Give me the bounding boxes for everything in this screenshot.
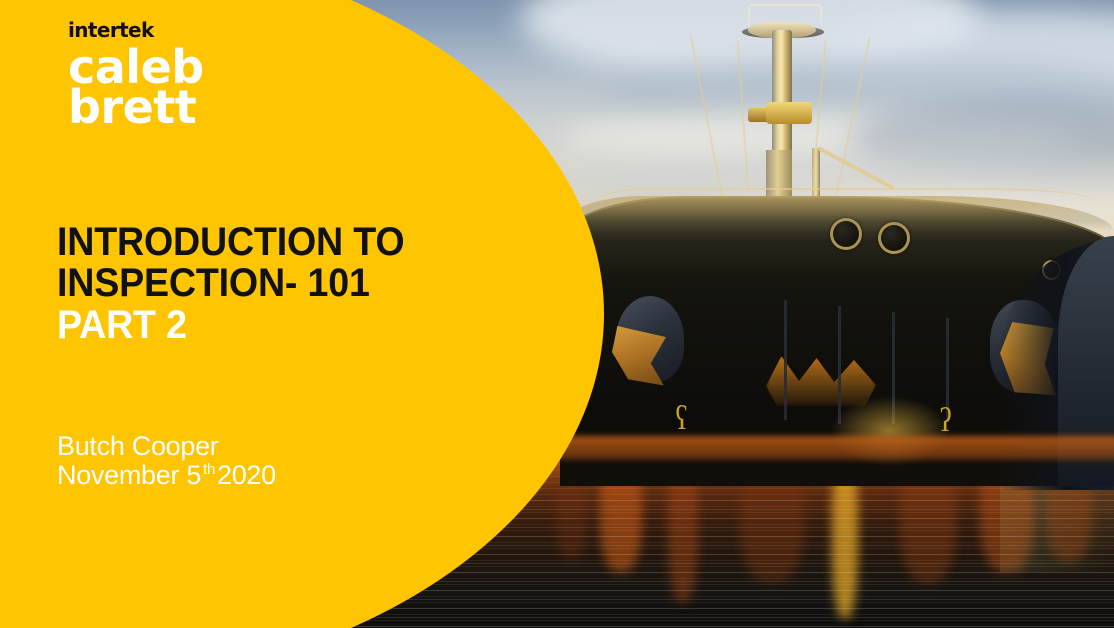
hull-fitting [784, 300, 787, 420]
title-line-3-part: PART 2 [57, 304, 404, 346]
title-line-1: INTRODUCTION TO [57, 222, 404, 263]
logo-brett-wordmark: brett [68, 88, 204, 128]
date-ordinal-suffix: th [201, 461, 217, 478]
date-month-day: November 5 [57, 460, 201, 490]
draft-mark-left: ʕ [676, 402, 688, 436]
waterline-boot-top [560, 436, 1114, 460]
presentation-title-slide: ʕ ʕ intertek caleb brett INTRODUCTION TO… [0, 0, 1114, 628]
presenter-info: Butch Cooper November 5th2020 [57, 432, 276, 490]
presenter-name: Butch Cooper [57, 432, 276, 461]
porthole [830, 218, 862, 250]
slide-title: INTRODUCTION TO INSPECTION- 101 PART 2 [57, 222, 427, 346]
presentation-date: November 5th2020 [57, 461, 276, 490]
mast-searchlight [766, 102, 812, 124]
date-year: 2020 [217, 460, 276, 490]
logo-intertek-wordmark: intertek [68, 20, 204, 40]
logo: intertek caleb brett [68, 20, 204, 127]
deck-railing [596, 188, 1096, 202]
title-line-2: INSPECTION- 101 [57, 263, 404, 304]
porthole [878, 222, 910, 254]
